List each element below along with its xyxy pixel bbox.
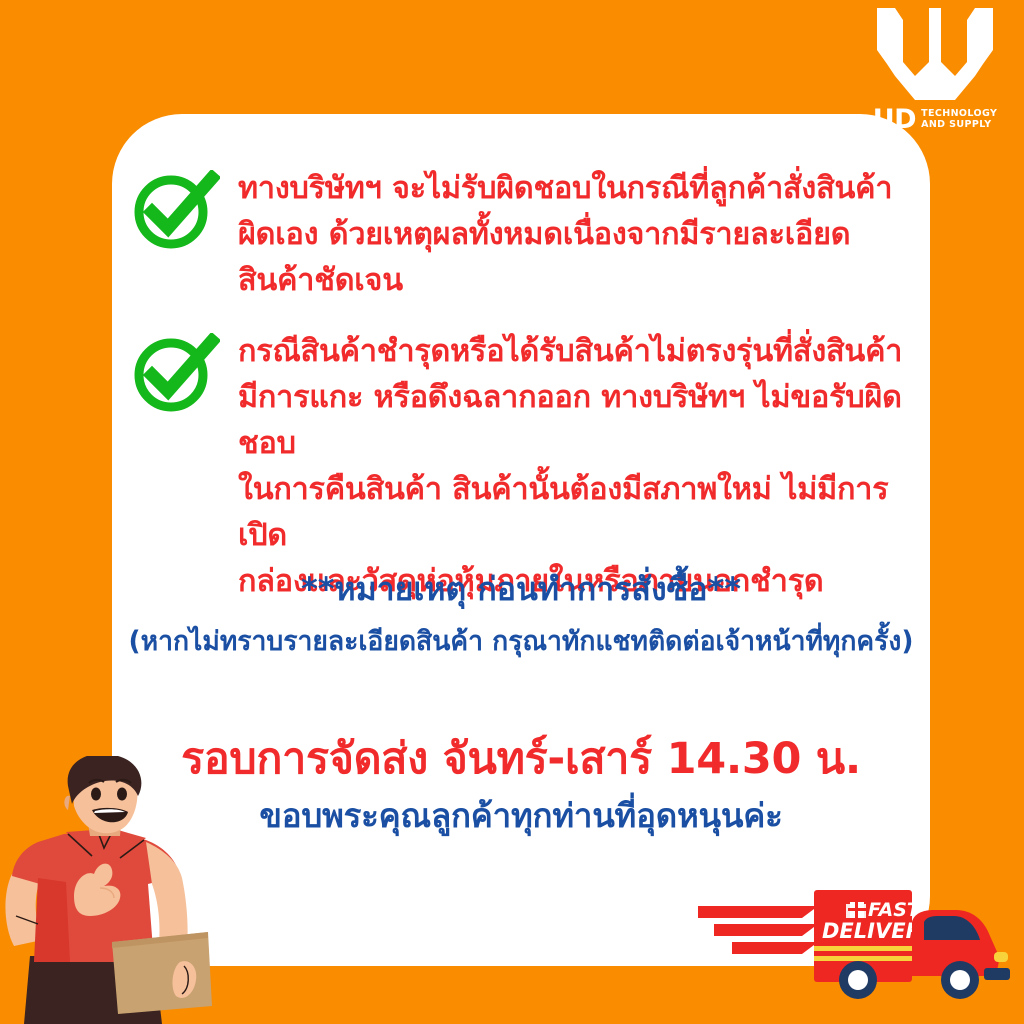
policy-bullet-2: กรณีสินค้าชำรุดหรือได้รับสินค้าไม่ตรงรุ่…	[128, 329, 930, 605]
delivery-block: รอบการจัดส่ง จันทร์-เสาร์ 14.30 น. ขอบพร…	[112, 734, 930, 835]
speed-lines-icon	[698, 906, 818, 954]
order-note-subheading: (หากไม่ทราบรายละเอียดสินค้า กรุณาทักแชทต…	[112, 625, 930, 658]
order-note-block: **หมายเหตุ ก่อนทำการสั่งซื้อ** (หากไม่ทร…	[112, 569, 930, 658]
order-note-heading: **หมายเหตุ ก่อนทำการสั่งซื้อ**	[112, 569, 930, 609]
policy-bullet-1: ทางบริษัทฯ จะไม่รับผิดชอบในกรณีที่ลูกค้า…	[128, 166, 892, 304]
green-check-icon	[128, 170, 220, 250]
delivery-schedule-text: รอบการจัดส่ง จันทร์-เสาร์ 14.30 น.	[112, 734, 930, 786]
fast-delivery-truck: FAST DELIVERY	[698, 880, 1016, 1002]
policy-bullet-1-text: ทางบริษัทฯ จะไม่รับผิดชอบในกรณีที่ลูกค้า…	[238, 166, 892, 304]
brand-tagline: TECHNOLOGY AND SUPPLY	[921, 109, 997, 130]
ud-monogram-icon	[873, 6, 997, 102]
brand-tagline-line2: AND SUPPLY	[921, 119, 991, 130]
info-card: ทางบริษัทฯ จะไม่รับผิดชอบในกรณีที่ลูกค้า…	[112, 114, 930, 966]
green-check-icon	[128, 333, 220, 413]
brand-tagline-line1: TECHNOLOGY	[921, 108, 997, 119]
poster-root: UD TECHNOLOGY AND SUPPLY ทางบริษัทฯ จะไม…	[0, 0, 1024, 1024]
thank-you-text: ขอบพระคุณลูกค้าทุกท่านที่อุดหนุนค่ะ	[112, 796, 930, 836]
truck-label-fast: FAST	[868, 899, 922, 921]
delivery-man-thumbs-up	[0, 756, 212, 1024]
policy-bullet-2-text: กรณีสินค้าชำรุดหรือได้รับสินค้าไม่ตรงรุ่…	[238, 329, 930, 605]
